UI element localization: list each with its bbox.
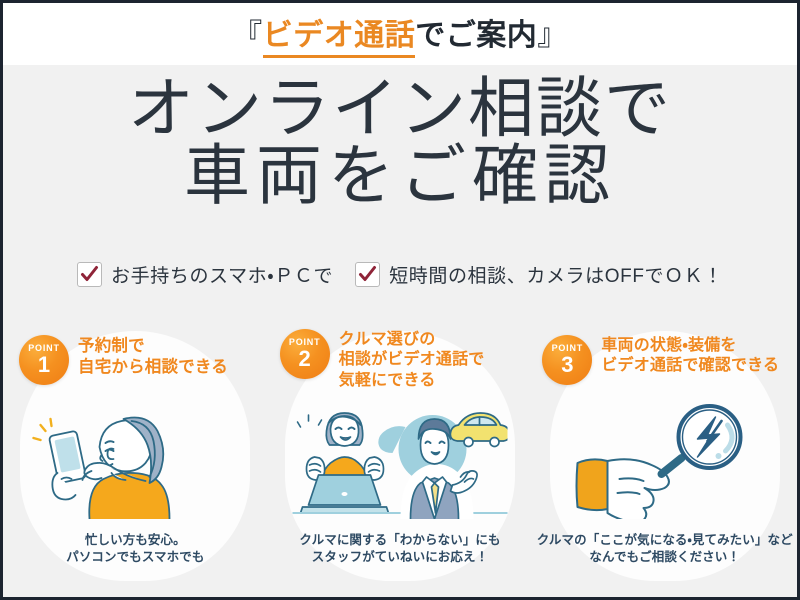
- point-title-2: クルマ選びの 相談がビデオ通話で 気軽にできる: [339, 329, 485, 391]
- badge-number: 1: [38, 354, 50, 376]
- point-title-line: 相談がビデオ通話で: [339, 350, 485, 370]
- point-title-line: 気軽にできる: [339, 371, 485, 391]
- hand-holding-magnifier-illustration: [557, 401, 772, 519]
- point-title-line: クルマ選びの: [339, 330, 485, 350]
- caption-line: クルマに関する「わからない」にも: [268, 532, 533, 550]
- point-caption-2: クルマに関する「わからない」にも スタッフがていねいにお応え！: [268, 532, 533, 568]
- point-badge-2: POINT 2: [280, 329, 330, 379]
- caption-line: パソコンでもスマホでも: [3, 549, 268, 567]
- point-header-2: POINT 2 クルマ選びの 相談がビデオ通話で 気軽にできる: [280, 329, 485, 391]
- caption-line: スタッフがていねいにお応え！: [268, 549, 533, 567]
- point-card-3: POINT 3 車両の状態・装備を ビデオ通話で確認できる: [532, 321, 797, 571]
- point-title-line: 車両の状態・装備を: [601, 336, 779, 356]
- point-badge-1: POINT 1: [19, 335, 69, 385]
- point-header-1: POINT 1 予約制で 自宅から相談できる: [19, 335, 228, 385]
- headline-line-2: 車両をご確認: [3, 142, 797, 209]
- caption-line: なんでもご相談ください！: [532, 549, 797, 567]
- point-title-1: 予約制で 自宅から相談できる: [78, 335, 228, 378]
- point-title-line: 予約制で: [78, 336, 228, 357]
- point-card-2: POINT 2 クルマ選びの 相談がビデオ通話で 気軽にできる: [268, 321, 533, 571]
- badge-number: 3: [561, 354, 573, 376]
- header-plain-text: でご案内: [415, 10, 537, 54]
- check-item-1: お手持ちのスマホ・ＰＣで: [77, 261, 333, 288]
- header-accent-text: ビデオ通話: [263, 10, 416, 58]
- bracket-close: 』: [537, 10, 568, 54]
- header-title: 『 ビデオ通話 でご案内 』: [232, 10, 568, 58]
- feature-check-row: お手持ちのスマホ・ＰＣで 短時間の相談、カメラはOFFでＯＫ！: [3, 261, 797, 288]
- point-header-3: POINT 3 車両の状態・装備を ビデオ通話で確認できる: [542, 335, 779, 385]
- point-title-line: ビデオ通話で確認できる: [601, 356, 779, 376]
- check-icon: [355, 262, 380, 287]
- headline-line-1: オンライン相談で: [3, 75, 797, 142]
- woman-at-laptop-and-staff-with-car-illustration: [293, 401, 508, 519]
- point-caption-1: 忙しい方も安心。 パソコンでもスマホでも: [3, 532, 268, 568]
- point-caption-3: クルマの「ここが気になる・見てみたい」など なんでもご相談ください！: [532, 532, 797, 568]
- point-title-line: 自宅から相談できる: [78, 357, 228, 378]
- check-label-1: お手持ちのスマホ・ＰＣで: [111, 261, 333, 288]
- promo-banner: 『 ビデオ通話 でご案内 』 オンライン相談で 車両をご確認 お手持ちのスマホ・…: [0, 0, 800, 600]
- badge-number: 2: [299, 348, 311, 370]
- points-section: POINT 1 予約制で 自宅から相談できる: [3, 321, 797, 571]
- caption-line: 忙しい方も安心。: [3, 532, 268, 550]
- woman-with-smartphone-illustration: [28, 401, 243, 519]
- point-card-1: POINT 1 予約制で 自宅から相談できる: [3, 321, 268, 571]
- check-icon: [77, 262, 102, 287]
- header-strip: 『 ビデオ通話 でご案内 』: [3, 3, 797, 65]
- main-headline: オンライン相談で 車両をご確認: [3, 75, 797, 210]
- point-badge-3: POINT 3: [542, 335, 592, 385]
- point-title-3: 車両の状態・装備を ビデオ通話で確認できる: [601, 335, 779, 377]
- bracket-open: 『: [232, 10, 263, 54]
- check-item-2: 短時間の相談、カメラはOFFでＯＫ！: [355, 261, 723, 288]
- check-label-2: 短時間の相談、カメラはOFFでＯＫ！: [389, 261, 723, 288]
- caption-line: クルマの「ここが気になる・見てみたい」など: [532, 532, 797, 550]
